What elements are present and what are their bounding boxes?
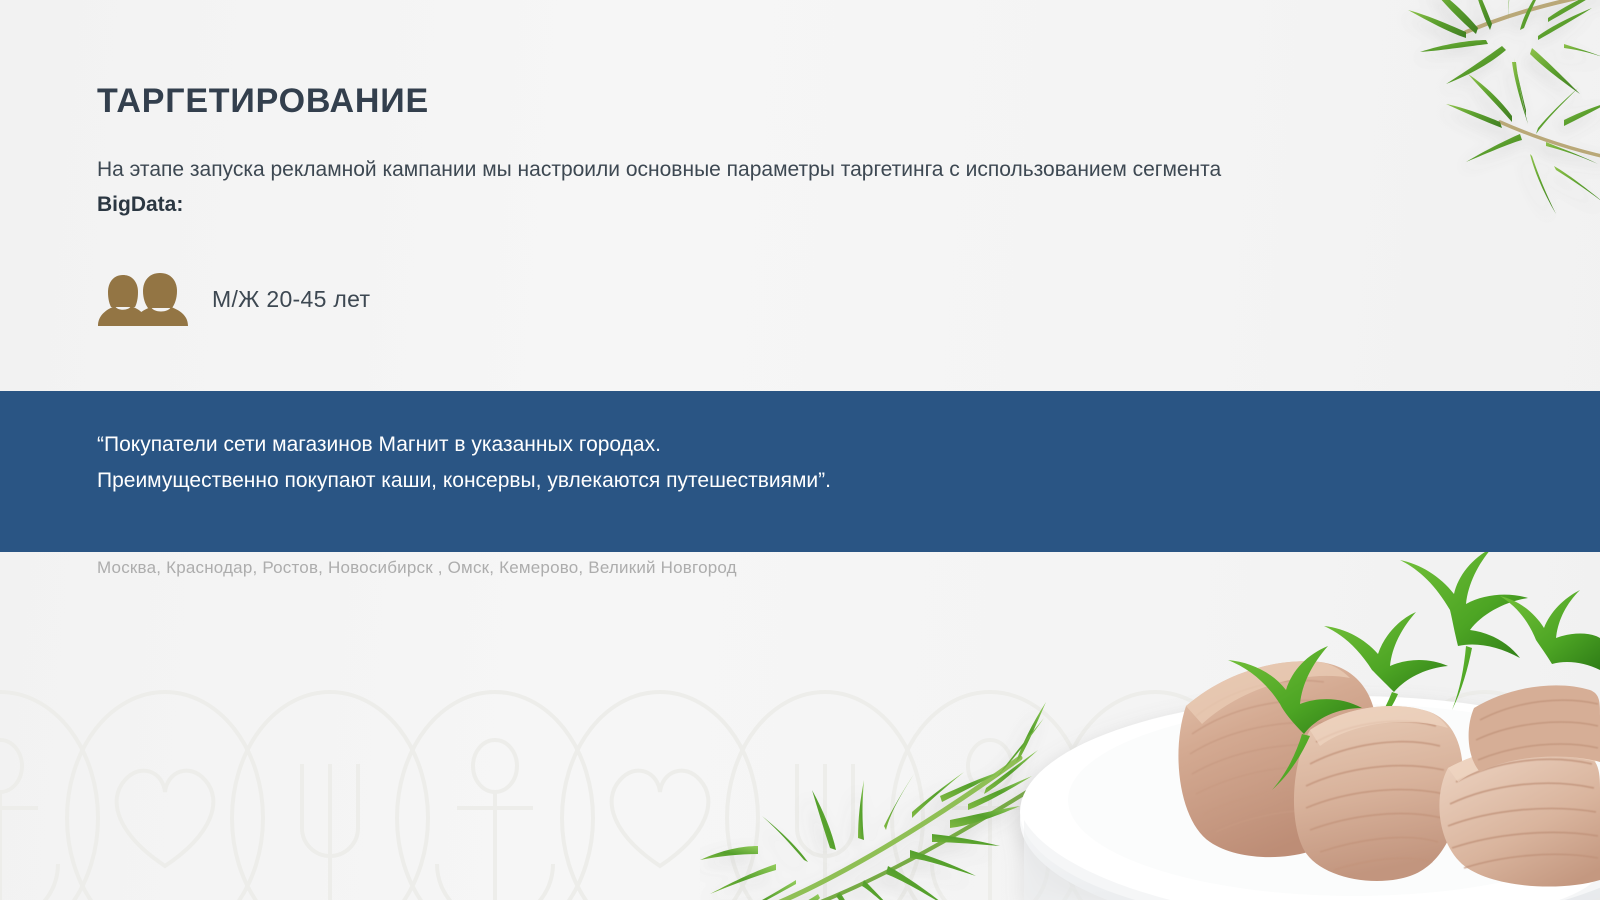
intro-paragraph: На этапе запуска рекламной кампании мы н… [97, 152, 1277, 222]
intro-bold-term: BigData: [97, 193, 183, 216]
page-title: ТАРГЕТИРОВАНИЕ [97, 82, 429, 121]
intro-text: На этапе запуска рекламной кампании мы н… [97, 158, 1221, 181]
people-icon [96, 270, 192, 328]
slide-root: ТАРГЕТИРОВАНИЕ На этапе запуска рекламно… [0, 0, 1600, 900]
watermark-pattern [0, 670, 1600, 900]
target-criterion-label: М/Ж 20-45 лет [212, 286, 370, 313]
target-criterion-row: М/Ж 20-45 лет [96, 270, 370, 328]
rosemary-sprig-icon [1280, 0, 1600, 230]
quote-line-1: “Покупатели сети магазинов Магнит в указ… [97, 427, 1397, 463]
quote-text: “Покупатели сети магазинов Магнит в указ… [97, 427, 1397, 499]
tuna-plate-photo [980, 520, 1600, 900]
quote-line-2: Преимущественно покупают каши, консервы,… [97, 463, 1397, 499]
cities-list: Москва, Краснодар, Ростов, Новосибирск ,… [97, 558, 737, 578]
rosemary-sprig-icon [700, 700, 1160, 900]
quote-band: “Покупатели сети магазинов Магнит в указ… [0, 391, 1600, 552]
